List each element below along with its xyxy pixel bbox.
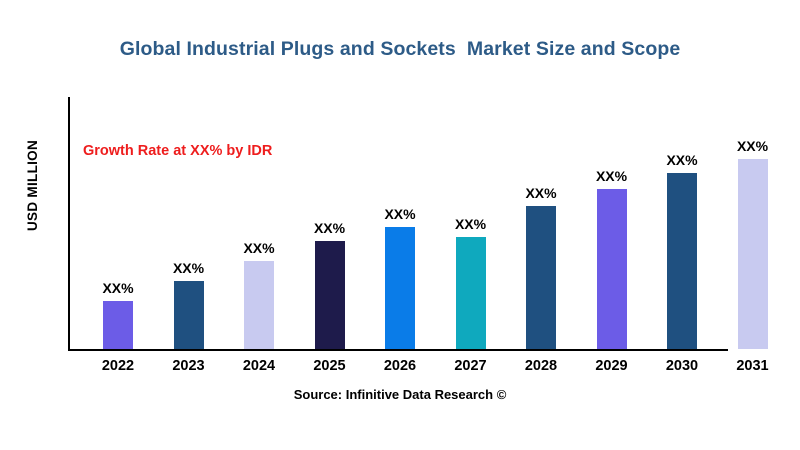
x-tick-label-2022: 2022	[88, 358, 148, 374]
x-tick-label-2031: 2031	[723, 358, 783, 374]
x-tick-label-2026: 2026	[370, 358, 430, 374]
bar-value-label: XX%	[455, 216, 486, 232]
x-tick-label-2027: 2027	[441, 358, 501, 374]
bar-group[interactable]: XX%	[244, 261, 274, 349]
x-tick-label-2023: 2023	[159, 358, 219, 374]
bar-value-label: XX%	[525, 185, 556, 201]
bar[interactable]	[667, 173, 697, 349]
bar-value-label: XX%	[102, 280, 133, 296]
x-tick-label-2025: 2025	[300, 358, 360, 374]
bar-group[interactable]: XX%	[597, 189, 627, 349]
bar-value-label: XX%	[596, 168, 627, 184]
bar-group[interactable]: XX%	[456, 237, 486, 349]
bar[interactable]	[103, 301, 133, 349]
page-title: Global Industrial Plugs and Sockets Mark…	[0, 38, 800, 61]
bar-group[interactable]: XX%	[738, 159, 768, 349]
bar-group[interactable]: XX%	[385, 227, 415, 349]
bar[interactable]	[597, 189, 627, 349]
y-axis-line	[68, 97, 70, 351]
plot-area: XX%XX%XX%XX%XX%XX%XX%XX%XX%XX%	[68, 97, 728, 351]
bar[interactable]	[526, 206, 556, 349]
bar-group[interactable]: XX%	[526, 206, 556, 349]
bar[interactable]	[315, 241, 345, 349]
x-tick-label-2030: 2030	[652, 358, 712, 374]
source-note: Source: Infinitive Data Research ©	[0, 387, 800, 402]
bar-group[interactable]: XX%	[174, 281, 204, 349]
bar-value-label: XX%	[666, 152, 697, 168]
x-tick-label-2029: 2029	[582, 358, 642, 374]
chart-figure: Global Industrial Plugs and Sockets Mark…	[0, 0, 800, 450]
bar[interactable]	[738, 159, 768, 349]
bar-value-label: XX%	[173, 260, 204, 276]
bar[interactable]	[385, 227, 415, 349]
x-tick-label-2024: 2024	[229, 358, 289, 374]
growth-rate-annotation: Growth Rate at XX% by IDR	[83, 143, 272, 159]
y-axis-label-text: USD MILLION	[26, 139, 41, 230]
bar[interactable]	[244, 261, 274, 349]
bar-value-label: XX%	[384, 206, 415, 222]
bar[interactable]	[456, 237, 486, 349]
x-axis-line	[68, 349, 728, 351]
bar-group[interactable]: XX%	[315, 241, 345, 349]
y-axis-label: USD MILLION	[21, 110, 45, 260]
bar-value-label: XX%	[243, 240, 274, 256]
bar[interactable]	[174, 281, 204, 349]
bar-group[interactable]: XX%	[103, 301, 133, 349]
bar-value-label: XX%	[314, 220, 345, 236]
bar-value-label: XX%	[737, 138, 768, 154]
bar-group[interactable]: XX%	[667, 173, 697, 349]
x-tick-label-2028: 2028	[511, 358, 571, 374]
